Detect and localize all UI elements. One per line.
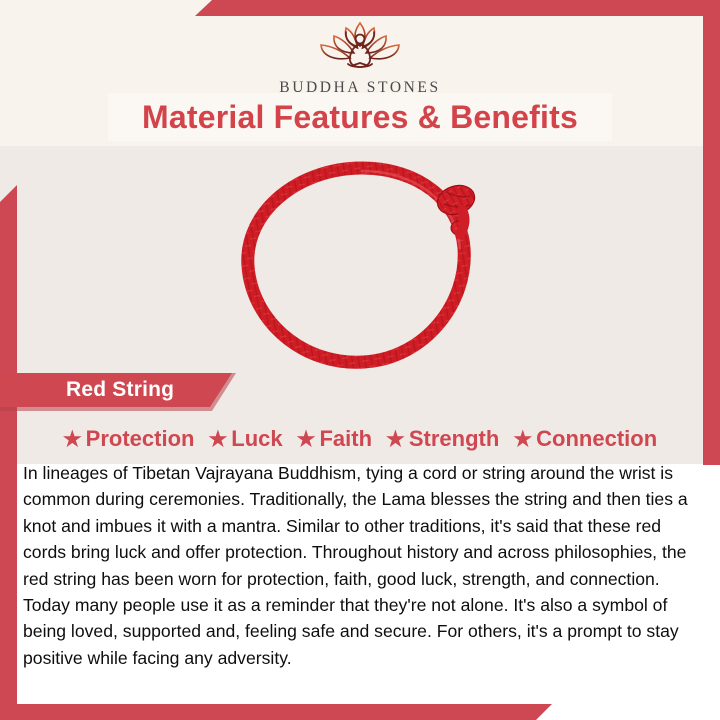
benefit-label: Faith xyxy=(319,426,372,452)
lotus-meditation-icon xyxy=(308,18,412,74)
benefit-label: Strength xyxy=(409,426,499,452)
benefit-label: Luck xyxy=(231,426,282,452)
star-icon: ★ xyxy=(297,429,316,450)
star-icon: ★ xyxy=(208,429,227,450)
star-icon: ★ xyxy=(386,429,405,450)
star-icon: ★ xyxy=(63,429,82,450)
benefit-label: Protection xyxy=(86,426,195,452)
decor-bar-bottom xyxy=(0,704,552,720)
product-label: Red String xyxy=(66,378,174,402)
benefit-item: ★ Faith xyxy=(297,426,372,452)
benefit-item: ★ Protection xyxy=(63,426,195,452)
star-icon: ★ xyxy=(513,429,532,450)
decor-bar-top xyxy=(195,0,720,16)
benefit-item: ★ Luck xyxy=(208,426,282,452)
benefit-item: ★ Connection xyxy=(513,426,657,452)
page-title: Material Features & Benefits xyxy=(142,99,578,136)
decor-bar-left xyxy=(0,185,17,720)
description-paragraph: In lineages of Tibetan Vajrayana Buddhis… xyxy=(23,460,701,671)
benefit-item: ★ Strength xyxy=(386,426,499,452)
benefits-list: ★ Protection ★ Luck ★ Faith ★ Strength ★… xyxy=(17,422,703,456)
page-title-band: Material Features & Benefits xyxy=(108,93,612,141)
product-label-ribbon: Red String xyxy=(0,373,232,407)
brand-logo: BUDDHA STONES xyxy=(0,18,720,97)
benefit-label: Connection xyxy=(536,426,657,452)
poster-canvas: BUDDHA STONES Material Features & Benefi… xyxy=(0,0,720,720)
product-image xyxy=(212,152,512,380)
